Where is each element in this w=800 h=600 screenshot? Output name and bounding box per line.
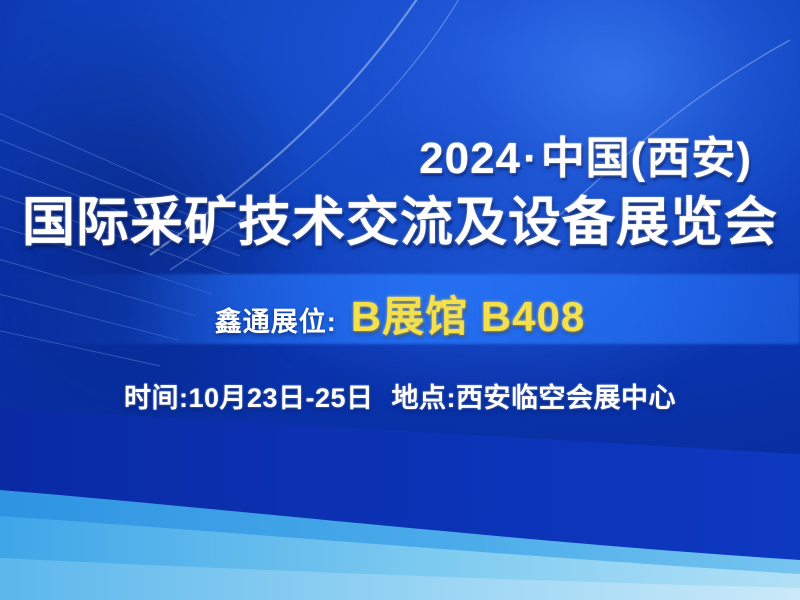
poster-content: 2024·中国(西安) 国际采矿技术交流及设备展览会 鑫通展位: B展馆 B40… [0,0,800,600]
title-line-2: 国际采矿技术交流及设备展览会 [22,180,778,256]
event-location: 地点:西安临空会展中心 [392,383,677,413]
booth-number: B展馆 B408 [351,283,585,344]
title-line-1: 2024·中国(西安) [419,122,752,186]
event-date: 时间:10月23日-25日 [124,383,374,413]
exhibition-poster: 2024·中国(西安) 国际采矿技术交流及设备展览会 鑫通展位: B展馆 B40… [0,0,800,600]
title-region: 中国(西安) [541,134,752,183]
booth-label: 鑫通展位: [215,300,337,339]
event-meta-row: 时间:10月23日-25日地点:西安临空会展中心 [0,376,800,415]
title-separator: · [521,134,541,183]
booth-row: 鑫通展位: B展馆 B408 [0,283,800,344]
title-year: 2024 [419,134,521,183]
